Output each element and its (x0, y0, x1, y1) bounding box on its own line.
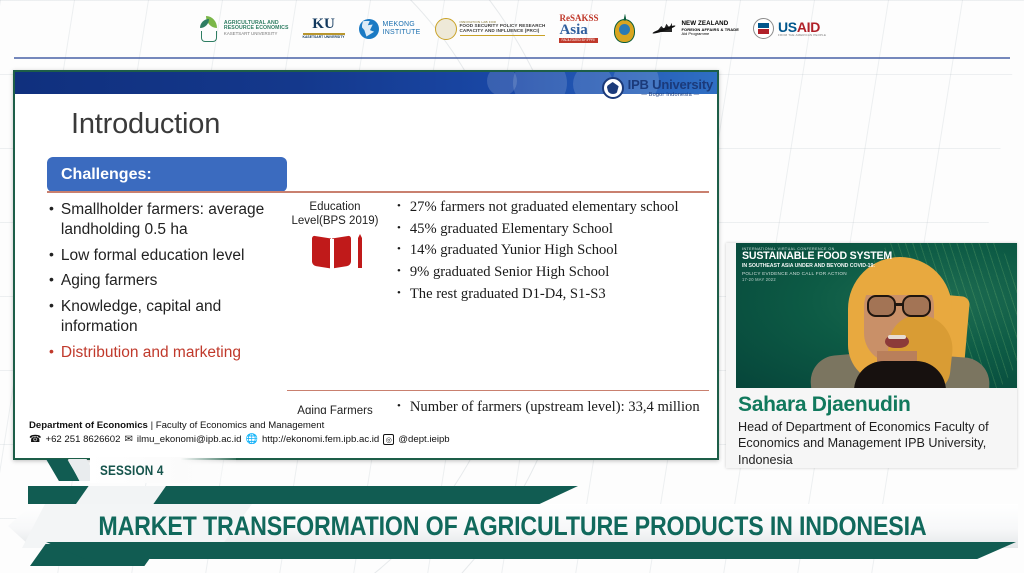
logo-innovation-lab-prci: INNOVATION LAB FOR FOOD SECURITY POLICY … (435, 18, 546, 40)
speaker-role: Head of Department of Economics Faculty … (738, 419, 1016, 468)
logo-mekong-institute: MEKONG INSTITUTE (359, 19, 421, 39)
footer-affiliation: Department of Economics | Faculty of Eco… (29, 420, 717, 431)
ipb-subtitle: — Bogor Indonesia — (628, 92, 713, 98)
divider-red-mid (287, 390, 709, 391)
resakss-line-2: Asia (559, 23, 598, 38)
ku-mark: KU (303, 17, 345, 32)
silver-fern-icon (651, 20, 677, 37)
footer-email: ilmu_ekonomi@ipb.ac.id (137, 434, 242, 445)
usaid-us: US (778, 20, 797, 35)
speaker-collar (854, 361, 946, 388)
bottom-banner: MARKET TRANSFORMATION OF AGRICULTURE PRO… (0, 480, 1024, 573)
ku-sub: KASETSART UNIVERSITY (303, 36, 345, 40)
ipb-name: IPB University (628, 78, 713, 91)
challenges-label: Challenges: (61, 166, 152, 184)
partner-logo-strip: AGRICULTURAL AND RESOURCE ECONOMICS KASE… (0, 0, 1024, 57)
list-item: • Knowledge, capital and information (49, 297, 279, 337)
challenges-banner: Challenges: (47, 157, 287, 192)
globe-icon: 🌐 (246, 434, 258, 445)
list-item: • The rest graduated D1-D4, S1-S3 (397, 285, 713, 305)
overlay-line-5: 17-20 MAY 2022 (742, 277, 892, 282)
open-book-icon (312, 237, 358, 271)
speaker-teeth (888, 335, 906, 339)
footer-contacts: ☎ +62 251 8626602 ✉ ilmu_ekonomi@ipb.ac.… (29, 434, 717, 445)
logo-agricultural-resource-economics: AGRICULTURAL AND RESOURCE ECONOMICS KASE… (198, 16, 289, 42)
overlay-line-3: IN SOUTHEAST ASIA UNDER AND BEYOND COVID… (742, 263, 892, 269)
speaker-glasses-bridge (895, 303, 903, 306)
list-item: • Aging farmers (49, 271, 279, 291)
ipb-seal-icon (602, 77, 624, 99)
footer-department: Department of Economics (29, 420, 148, 431)
logo-kasetsart-university: KU KASETSART UNIVERSITY (303, 17, 345, 40)
list-item: • Low formal education level (49, 246, 279, 266)
list-item: • Smallholder farmers: average landholdi… (49, 200, 279, 240)
overlay-line-2: SUSTAINABLE FOOD SYSTEM (742, 251, 892, 262)
bullet-dot: • (49, 343, 54, 363)
footer-website[interactable]: http://ekonomi.fem.ipb.ac.id (262, 434, 379, 445)
overlay-line-1: INTERNATIONAL VIRTUAL CONFERENCE ON (742, 247, 892, 251)
logo-royal-thai-seal (612, 15, 637, 43)
list-item-label: Knowledge, capital and information (61, 297, 279, 337)
speaker-panel[interactable]: INTERNATIONAL VIRTUAL CONFERENCE ON SUST… (726, 243, 1017, 468)
list-item-label: Aging farmers (61, 271, 157, 291)
mekong-line-2: INSTITUTE (383, 29, 421, 36)
bullet-dot: • (397, 198, 401, 218)
bullet-dot: • (397, 285, 401, 305)
footer-instagram: @dept.ieipb (398, 434, 449, 445)
list-item-label: The rest graduated D1-D4, S1-S3 (410, 285, 606, 305)
usaid-tagline: FROM THE AMERICAN PEOPLE (778, 34, 826, 37)
phone-icon: ☎ (29, 434, 41, 445)
footer-faculty: Faculty of Economics and Management (156, 420, 325, 431)
speaker-glasses-left (867, 295, 896, 317)
bullet-dot: • (397, 241, 401, 261)
resakss-line-3: FACILITATED BY IFPRI (559, 38, 598, 43)
slide-title: Introduction (71, 108, 220, 141)
bullet-dot: • (49, 246, 54, 266)
conference-overlay: INTERNATIONAL VIRTUAL CONFERENCE ON SUST… (742, 247, 892, 282)
education-level-label: Education Level(BPS 2019) (287, 200, 383, 229)
bullet-dot: • (397, 220, 401, 240)
ipb-university-logo: IPB University — Bogor Indonesia — (602, 73, 713, 103)
list-item: • 14% graduated Yunior High School (397, 241, 713, 261)
mekong-line-1: MEKONG (383, 21, 421, 28)
instagram-icon: ◎ (383, 434, 394, 445)
footer-separator: | (151, 420, 154, 431)
prci-divider (460, 35, 546, 36)
list-item-label: 27% farmers not graduated elementary sch… (410, 198, 679, 218)
header-divider (14, 57, 1010, 59)
bullet-dot: • (49, 271, 54, 291)
list-item: • 9% graduated Senior High School (397, 263, 713, 283)
envelope-icon: ✉ (124, 434, 132, 445)
banner-title: MARKET TRANSFORMATION OF AGRICULTURE PRO… (98, 511, 926, 542)
list-item-label: 14% graduated Yunior High School (410, 241, 618, 261)
list-item-highlighted: • Distribution and marketing (49, 343, 279, 363)
slide-footer: Department of Economics | Faculty of Eco… (15, 414, 717, 458)
list-item-label: Distribution and marketing (61, 343, 241, 363)
logo-usaid: US AID FROM THE AMERICAN PEOPLE (753, 18, 826, 39)
divider-red-top (47, 191, 709, 193)
footer-phone: +62 251 8626602 (45, 434, 120, 445)
list-item-label: 45% graduated Elementary School (410, 220, 613, 240)
speaker-video-feed[interactable]: INTERNATIONAL VIRTUAL CONFERENCE ON SUST… (736, 243, 1017, 388)
presentation-slide[interactable]: IPB University — Bogor Indonesia — Intro… (13, 70, 719, 460)
usaid-seal-icon (753, 18, 774, 39)
bullet-dot: • (397, 263, 401, 283)
prci-line-3: CAPACITY AND INFLUENCE (PRCI) (460, 29, 546, 34)
bullet-dot: • (49, 297, 54, 337)
overlay-line-4: POLICY EVIDENCE AND CALL FOR ACTION (742, 271, 892, 276)
education-level-block: Education Level(BPS 2019) (287, 200, 383, 271)
banner-top-notch (76, 486, 166, 504)
list-item-label: 9% graduated Senior High School (410, 263, 609, 283)
banner-title-wrap: MARKET TRANSFORMATION OF AGRICULTURE PRO… (0, 506, 1024, 546)
nz-line-3: Aid Programme (681, 32, 739, 36)
usaid-aid: AID (797, 20, 820, 35)
list-item-label: Low formal education level (61, 246, 245, 266)
list-item: • 27% farmers not graduated elementary s… (397, 198, 713, 218)
globe-icon (359, 19, 379, 39)
logo-line-3: KASETSART UNIVERSITY (224, 32, 289, 37)
list-item-label: Smallholder farmers: average landholding… (61, 200, 279, 240)
challenges-list: • Smallholder farmers: average landholdi… (49, 200, 279, 369)
speaker-glasses-right (902, 295, 931, 317)
speaker-name: Sahara Djaenudin (738, 393, 911, 417)
education-bullets: • 27% farmers not graduated elementary s… (397, 198, 713, 306)
logo-new-zealand-mfat: NEW ZEALAND FOREIGN AFFAIRS & TRADE Aid … (651, 20, 739, 37)
screen: AGRICULTURAL AND RESOURCE ECONOMICS KASE… (0, 0, 1024, 573)
plant-in-pot-icon (198, 16, 220, 42)
seal-icon (435, 18, 457, 40)
session-tag-label: SESSION 4 (100, 462, 164, 478)
logo-resakss-asia: ReSAKSS Asia FACILITATED BY IFPRI (559, 14, 598, 43)
bullet-dot: • (49, 200, 54, 240)
list-item: • 45% graduated Elementary School (397, 220, 713, 240)
